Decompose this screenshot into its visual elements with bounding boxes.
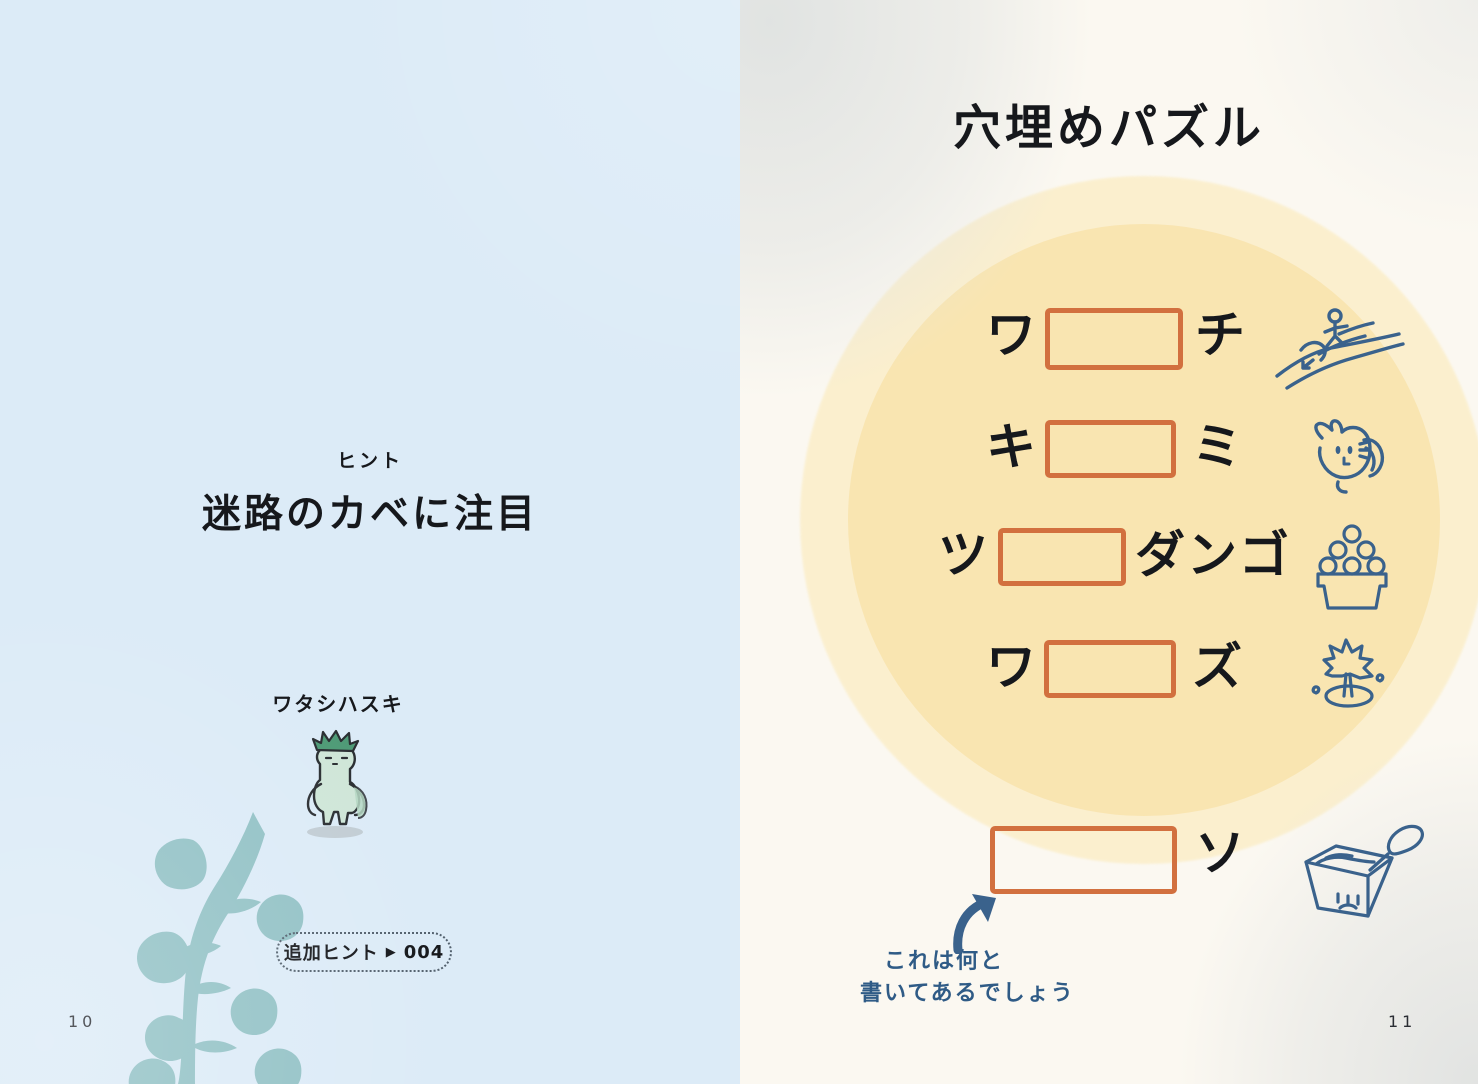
ski-slope-icon — [1273, 298, 1405, 394]
additional-hint-text: 追加ヒント — [284, 939, 379, 965]
hint-block: ヒント 迷路のカベに注目 — [0, 452, 740, 537]
left-page: ヒント 迷路のカベに注目 ワタシハスキ — [0, 0, 740, 1084]
right-page: 穴埋めパズル ワ チ — [740, 0, 1478, 1084]
curved-arrow-up-right-icon — [948, 888, 1018, 954]
additional-hint-button-label: 追加ヒント ▶ 004 — [284, 939, 445, 965]
answer-blank-box[interactable] — [1044, 640, 1176, 698]
pudding-cup-spoon-icon — [1296, 818, 1426, 922]
character-speech: ワタシハスキ — [238, 688, 438, 717]
row-left-kana: ツ — [938, 530, 990, 580]
row-left-kana: キ — [986, 422, 1038, 472]
row-right-kana: ズ — [1192, 642, 1244, 692]
note-annotation: これは何と 書いてあるでしょう — [870, 946, 1170, 1010]
row-right-kana: ダンゴ — [1135, 530, 1291, 580]
hint-label: ヒント — [0, 452, 740, 471]
puzzle-final-row: ソ — [740, 812, 1478, 922]
puzzle-rows: ワ チ — [740, 292, 1478, 732]
row-left-kana: ワ — [986, 642, 1038, 692]
puzzle-row: ワ チ — [740, 292, 1478, 402]
answer-blank-box[interactable] — [1045, 420, 1176, 478]
fountain-splash-icon — [1298, 634, 1394, 720]
final-row-right-kana: ソ — [1195, 828, 1245, 878]
page-number-right: 11 — [1388, 1012, 1416, 1031]
row-left-kana: ワ — [986, 310, 1038, 360]
puzzle-row: ツ ダンゴ — [740, 512, 1478, 622]
page-title: 穴埋めパズル — [740, 104, 1478, 152]
row-right-kana: チ — [1195, 310, 1247, 360]
row-right-kana: ミ — [1192, 422, 1244, 472]
note-line-1: これは何と — [884, 946, 1170, 978]
note-line-2: 書いてあるでしょう — [860, 978, 1170, 1010]
answer-blank-box[interactable] — [1045, 308, 1183, 370]
ponytail-face-icon — [1302, 414, 1394, 500]
puzzle-row: ワ ズ — [740, 622, 1478, 732]
answer-blank-box[interactable] — [998, 528, 1126, 586]
additional-hint-button[interactable]: 追加ヒント ▶ 004 — [276, 932, 452, 972]
puzzle-row: キ ミ — [740, 402, 1478, 512]
page-number-left: 10 — [68, 1012, 96, 1031]
answer-blank-box-final[interactable] — [990, 826, 1177, 894]
hint-text: 迷路のカベに注目 — [0, 494, 740, 537]
play-triangle-icon: ▶ — [386, 946, 397, 959]
additional-hint-number: 004 — [404, 942, 445, 963]
dango-basket-icon — [1310, 520, 1394, 612]
book-spread: ヒント 迷路のカベに注目 ワタシハスキ — [0, 0, 1478, 1084]
